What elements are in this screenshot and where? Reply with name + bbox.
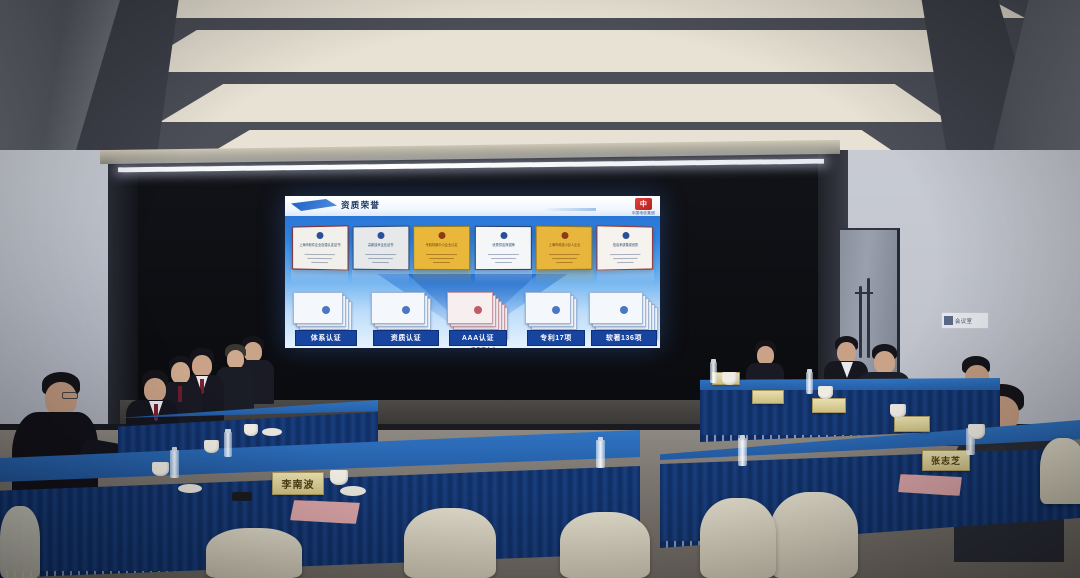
- award-plaque-row: 上海市软件企业百强认定证书高新技术企业证书专精特新中小企业认定优秀供应商奖牌上海…: [291, 226, 654, 270]
- name-card-right-2: [894, 416, 930, 432]
- wall-sign-label: 会议室: [955, 316, 972, 324]
- tea-cup-left-1[interactable]: [152, 462, 169, 476]
- plaque-text-line: [308, 258, 332, 260]
- person-head: [144, 378, 166, 402]
- plaque-text-line: [552, 258, 576, 260]
- tea-cup-right-3[interactable]: [890, 404, 906, 418]
- bottle-cap: [598, 437, 604, 441]
- bottle-cap: [711, 359, 715, 363]
- certificate-group: 软著136项: [589, 288, 659, 346]
- slide-header-accent-shape: [291, 199, 337, 211]
- wall-sign-icon: [944, 316, 953, 325]
- ceiling-panel-1: [95, 0, 1025, 18]
- eyeglasses: [62, 392, 78, 399]
- plaque-text-line: [494, 262, 512, 263]
- name-card-right-text: 张志芝: [931, 454, 961, 467]
- document-folder[interactable]: [290, 500, 360, 524]
- name-card-right-4: [752, 390, 784, 404]
- plaque-text: 信息系统集成资质: [601, 243, 649, 247]
- name-card-right-3: [812, 398, 846, 413]
- plaque-reflection: [413, 270, 470, 284]
- plaque-emblem-icon: [622, 232, 629, 239]
- water-bottle-right-2[interactable]: [738, 438, 747, 466]
- room-wall-sign: 会议室: [941, 312, 989, 329]
- chair-right-2[interactable]: [700, 498, 776, 578]
- plaque-text-line: [311, 262, 328, 264]
- person-head: [171, 362, 190, 384]
- water-bottle-left-2[interactable]: [224, 432, 232, 457]
- plaque-reflection: [475, 270, 532, 284]
- person-head: [874, 351, 895, 374]
- saucer-left-1: [178, 484, 202, 493]
- ceiling-panel-2: [128, 30, 988, 72]
- plaque-text-line: [488, 254, 519, 255]
- plaque-reflection: [536, 270, 593, 284]
- certificate-group-row: 体系认证资质认证AAA认证AAA级信用企业专利17项软著136项: [289, 284, 656, 346]
- certificate-group: 体系认证: [293, 288, 359, 346]
- tea-cup-right-4[interactable]: [968, 424, 985, 439]
- plaque-text-line: [613, 258, 637, 260]
- plaque-text-line: [366, 254, 397, 256]
- certificate-label: AAA认证AAA级信用企业: [449, 330, 507, 346]
- tea-cup-left-4[interactable]: [330, 470, 348, 485]
- certificate-sheet: [589, 292, 643, 324]
- chair-front-center-left[interactable]: [206, 528, 302, 578]
- tea-cup-right-1[interactable]: [722, 372, 737, 385]
- award-plaque: 上海市软件企业百强认定证书: [292, 225, 349, 270]
- award-plaque: 优秀供应商奖牌: [474, 226, 531, 270]
- plaque-text: 上海市科技小巨人企业: [540, 243, 588, 247]
- led-presentation-screen[interactable]: 资质荣誉 中 中国电信集团 上海市软件企业百强认定证书高新技术企业证书专精特新中…: [285, 196, 660, 348]
- certificate-group: AAA认证AAA级信用企业: [447, 288, 509, 346]
- person-head: [192, 355, 212, 377]
- plaque-text-line: [430, 258, 454, 259]
- certificate-group: 专利17项: [525, 288, 587, 346]
- certificate-seal-icon: [322, 306, 330, 314]
- certificate-sheet: [371, 292, 425, 324]
- certificate-seal-icon: [620, 306, 628, 314]
- company-logo-name: 中国电信集团: [632, 211, 655, 216]
- plaque-text-line: [305, 254, 336, 256]
- award-plaque: 专精特新中小企业认定: [414, 226, 471, 270]
- plaque-text: 高新技术企业证书: [357, 243, 405, 247]
- tea-cup-left-2[interactable]: [204, 440, 219, 453]
- plaque-emblem-icon: [500, 232, 507, 239]
- plaque-text: 上海市软件企业百强认定证书: [296, 243, 344, 247]
- plaque-emblem-icon: [316, 232, 323, 239]
- bottle-cap: [807, 369, 811, 373]
- water-bottle-right-4[interactable]: [710, 362, 717, 383]
- plaque-text-line: [433, 262, 451, 263]
- bottle-cap: [740, 435, 746, 439]
- bottle-cap: [172, 447, 178, 451]
- plaque-reflection: [291, 270, 348, 284]
- certificate-sheet: [293, 292, 343, 324]
- door-handle-left[interactable]: [859, 286, 862, 358]
- person-tie: [154, 404, 158, 420]
- award-plaque: 上海市科技小巨人企业: [535, 226, 592, 271]
- microphone-base[interactable]: [232, 492, 252, 501]
- water-bottle-right-3[interactable]: [806, 372, 813, 394]
- plaque-text-line: [427, 254, 458, 255]
- name-card-right: 张志芝: [922, 450, 970, 471]
- plaque-text: 优秀供应商奖牌: [479, 243, 528, 247]
- ceiling-panel-3: [160, 84, 950, 122]
- certificate-group: 资质认证: [371, 288, 441, 346]
- tea-cup-left-3[interactable]: [244, 424, 258, 436]
- certificate-sheet: [447, 292, 493, 324]
- plaque-text-line: [549, 254, 580, 256]
- chair-left-far[interactable]: [0, 506, 40, 578]
- certificate-seal-icon: [552, 306, 560, 314]
- water-bottle-center[interactable]: [596, 440, 605, 468]
- plaque-reflection: [352, 270, 409, 284]
- tea-cup-right-2[interactable]: [818, 386, 833, 399]
- certificate-label: 专利17项: [527, 330, 585, 346]
- saucer-left-3: [262, 428, 282, 436]
- chair-right-far[interactable]: [1040, 438, 1080, 504]
- chair-front-right[interactable]: [560, 512, 650, 578]
- plaque-text: 专精特新中小企业认定: [418, 243, 467, 247]
- door-handle-right[interactable]: [867, 278, 870, 358]
- chair-front-center[interactable]: [404, 508, 496, 578]
- plaque-emblem-icon: [438, 232, 445, 239]
- certificate-note: AAA级信用企业: [459, 347, 496, 348]
- company-logo: 中 中国电信集团: [632, 198, 655, 216]
- door-handle-crossbar: [855, 292, 873, 294]
- certificate-label: 软著136项: [591, 330, 657, 346]
- bottle-cap: [225, 429, 230, 433]
- person-head: [45, 382, 77, 416]
- plaque-text-line: [491, 258, 515, 259]
- plaque-text-line: [555, 262, 573, 264]
- plaque-emblem-icon: [377, 232, 384, 239]
- plaque-emblem-icon: [561, 232, 568, 239]
- plaque-text-line: [617, 262, 634, 264]
- certificate-label: 资质认证: [373, 330, 439, 346]
- name-card-left-text: 李南波: [282, 476, 315, 491]
- slide-title: 资质荣誉: [341, 199, 380, 211]
- name-card-left: 李南波: [272, 472, 324, 495]
- slide-header: 资质荣誉 中 中国电信集团: [285, 196, 660, 216]
- slide-body: 上海市软件企业百强认定证书高新技术企业证书专精特新中小企业认定优秀供应商奖牌上海…: [285, 216, 660, 348]
- plaque-text-line: [610, 254, 641, 256]
- certificate-label: 体系认证: [295, 330, 357, 346]
- award-plaque: 高新技术企业证书: [353, 226, 410, 271]
- conference-room-photo: 会议室 资质荣誉 中 中国电信集团 上海市软件企业百强认定证书高新技术企业证书专…: [0, 0, 1080, 578]
- certificate-seal-icon: [402, 306, 410, 314]
- company-logo-mark: 中: [635, 198, 652, 210]
- person-head: [244, 342, 262, 362]
- chair-right-1[interactable]: [770, 492, 858, 578]
- slide-header-underline: [542, 208, 596, 211]
- plaque-text-line: [369, 258, 393, 260]
- person-head: [837, 342, 856, 363]
- award-plaque-reflection: [291, 270, 654, 284]
- certificate-sheet: [525, 292, 571, 324]
- plaque-reflection: [597, 270, 654, 284]
- water-bottle-left-1[interactable]: [170, 450, 179, 478]
- saucer-left-2: [340, 486, 366, 496]
- person-tie: [178, 386, 182, 402]
- certificate-seal-icon: [474, 306, 482, 314]
- plaque-text-line: [372, 262, 390, 264]
- award-plaque: 信息系统集成资质: [596, 225, 653, 270]
